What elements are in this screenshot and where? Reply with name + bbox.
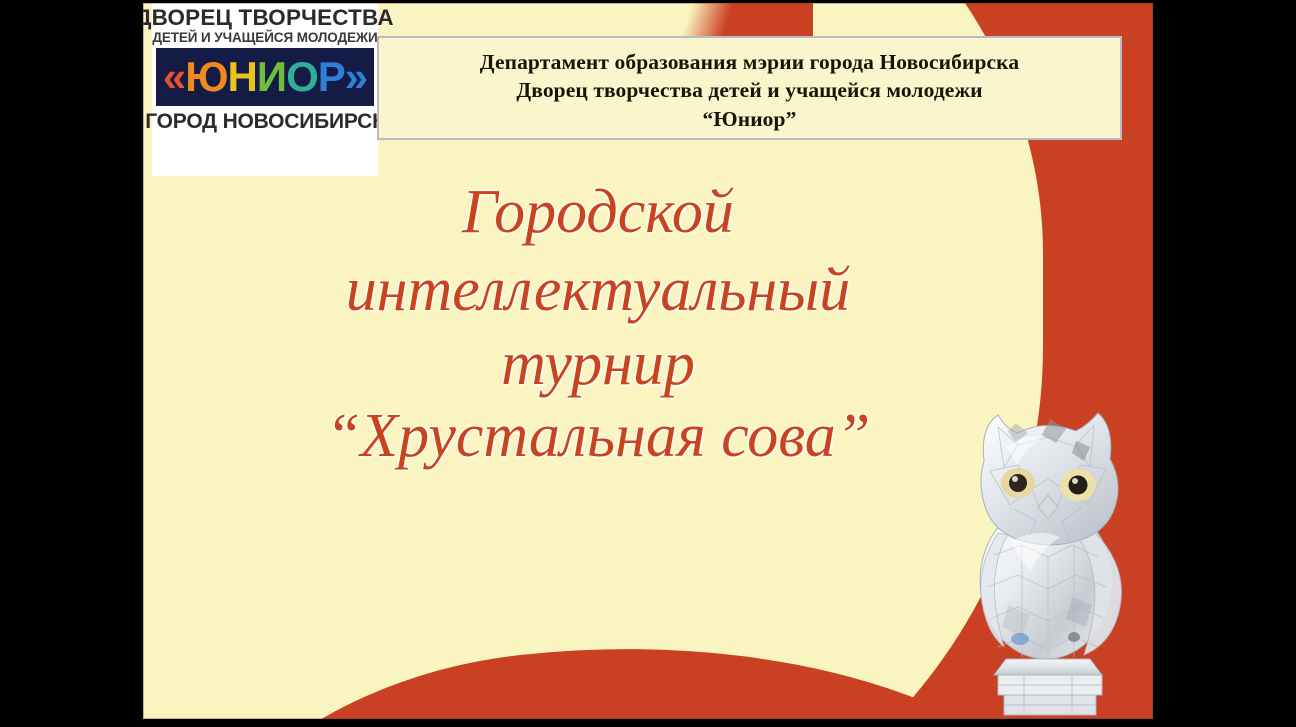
- header-line-3: “Юниор”: [703, 105, 797, 133]
- logo-line-1: ДВОРЕЦ ТВОРЧЕСТВА: [143, 6, 394, 29]
- logo-char-0: «: [163, 56, 185, 98]
- logo-char-2: Н: [228, 56, 257, 98]
- title-line-3: турнир: [213, 333, 983, 395]
- logo-char-6: »: [345, 56, 367, 98]
- title-line-4: “Хрустальная сова”: [213, 405, 983, 467]
- title-line-2: интеллектуальный: [213, 259, 983, 321]
- logo-wordmark: « Ю Н И О Р »: [163, 56, 367, 98]
- logo-char-3: И: [257, 56, 286, 98]
- logo-char-5: Р: [318, 56, 345, 98]
- header-line-2: Дворец творчества детей и учащейся молод…: [516, 76, 982, 104]
- organization-logo: ДВОРЕЦ ТВОРЧЕСТВА ДЕТЕЙ И УЧАЩЕЙСЯ МОЛОД…: [152, 3, 378, 176]
- logo-char-4: О: [286, 56, 318, 98]
- logo-line-2: ДЕТЕЙ И УЧАЩЕЙСЯ МОЛОДЕЖИ: [152, 30, 377, 45]
- header-line-1: Департамент образования мэрии города Нов…: [480, 48, 1019, 76]
- presentation-slide: ДВОРЕЦ ТВОРЧЕСТВА ДЕТЕЙ И УЧАЩЕЙСЯ МОЛОД…: [143, 3, 1153, 719]
- crystal-owl-icon: [954, 391, 1144, 719]
- logo-wordmark-bar: « Ю Н И О Р »: [156, 48, 374, 106]
- screenshot-stage: ДВОРЕЦ ТВОРЧЕСТВА ДЕТЕЙ И УЧАЩЕЙСЯ МОЛОД…: [0, 0, 1296, 727]
- logo-line-3: ГОРОД НОВОСИБИРСК: [145, 110, 385, 134]
- logo-char-1: Ю: [185, 56, 227, 98]
- slide-title: Городской интеллектуальный турнир “Хруст…: [213, 181, 983, 467]
- title-line-1: Городской: [213, 181, 983, 243]
- crystal-owl-image: [954, 391, 1144, 719]
- header-text-box: Департамент образования мэрии города Нов…: [377, 36, 1122, 140]
